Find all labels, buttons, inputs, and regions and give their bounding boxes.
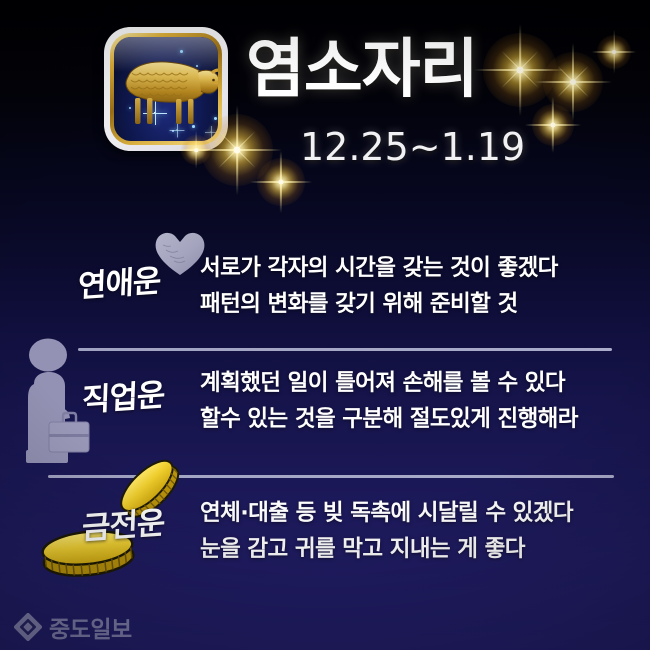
section-line: 연체·대출 등 빚 독촉에 시달릴 수 있겠다 <box>200 495 573 531</box>
section-line: 서로가 각자의 시간을 갖는 것이 좋겠다 <box>200 250 558 286</box>
section-text-career: 계획했던 일이 틀어져 손해를 볼 수 있다 할수 있는 것을 구분해 절도있게… <box>200 365 578 437</box>
section-label-love: 연애운 <box>77 255 161 306</box>
page-title: 염소자리 <box>246 38 478 102</box>
section-line: 패턴의 변화를 갖기 위해 준비할 것 <box>200 286 558 322</box>
section-text-love: 서로가 각자의 시간을 갖는 것이 좋겠다 패턴의 변화를 갖기 위해 준비할 … <box>200 250 558 322</box>
publisher-logo: 중도일보 <box>14 610 132 644</box>
section-text-money: 연체·대출 등 빚 독촉에 시달릴 수 있겠다 눈을 감고 귀를 막고 지내는 … <box>200 495 573 567</box>
section-line: 눈을 감고 귀를 막고 지내는 게 좋다 <box>200 531 573 567</box>
zodiac-gold-frame <box>110 33 222 145</box>
zodiac-night-sky <box>114 37 218 141</box>
header: 염소자리 12.25~1.19 <box>0 0 650 205</box>
section-divider <box>78 348 612 351</box>
diamond-logo-icon <box>14 613 42 641</box>
section-label-career: 직업운 <box>81 369 165 420</box>
section-label-money: 금전운 <box>81 497 165 548</box>
section-line: 계획했던 일이 틀어져 손해를 볼 수 있다 <box>200 365 578 401</box>
section-line: 할수 있는 것을 구분해 절도있게 진행해라 <box>200 401 578 437</box>
publisher-name: 중도일보 <box>49 610 132 644</box>
capricorn-goat-icon <box>104 27 228 151</box>
horoscope-card: 염소자리 12.25~1.19 <box>0 0 650 650</box>
date-range: 12.25~1.19 <box>300 128 525 166</box>
goat-silhouette <box>118 51 218 131</box>
